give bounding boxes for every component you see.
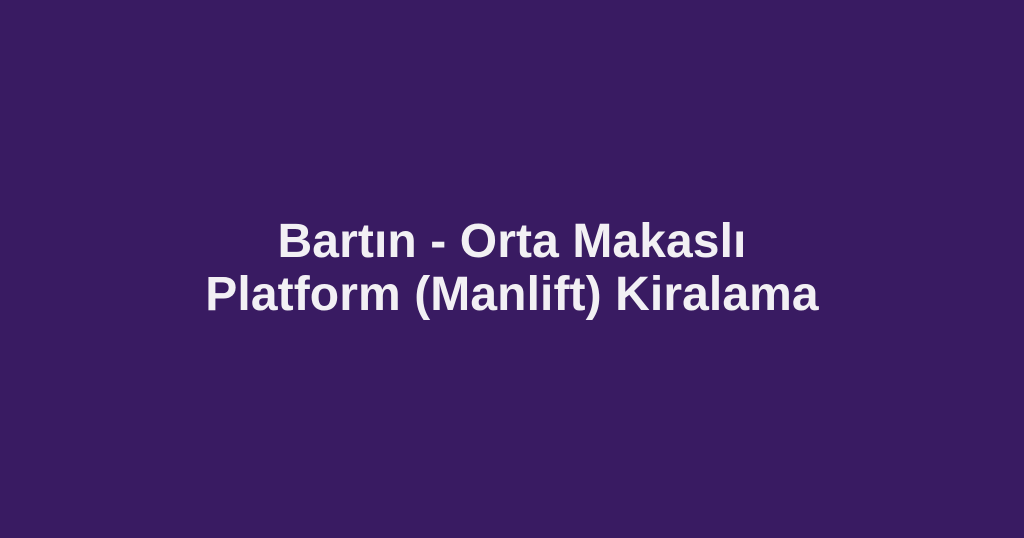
banner-title: Bartın - Orta Makaslı Platform (Manlift)… <box>174 215 850 321</box>
share-banner-card: Bartın - Orta Makaslı Platform (Manlift)… <box>0 0 1024 538</box>
banner-content: Bartın - Orta Makaslı Platform (Manlift)… <box>162 215 862 321</box>
